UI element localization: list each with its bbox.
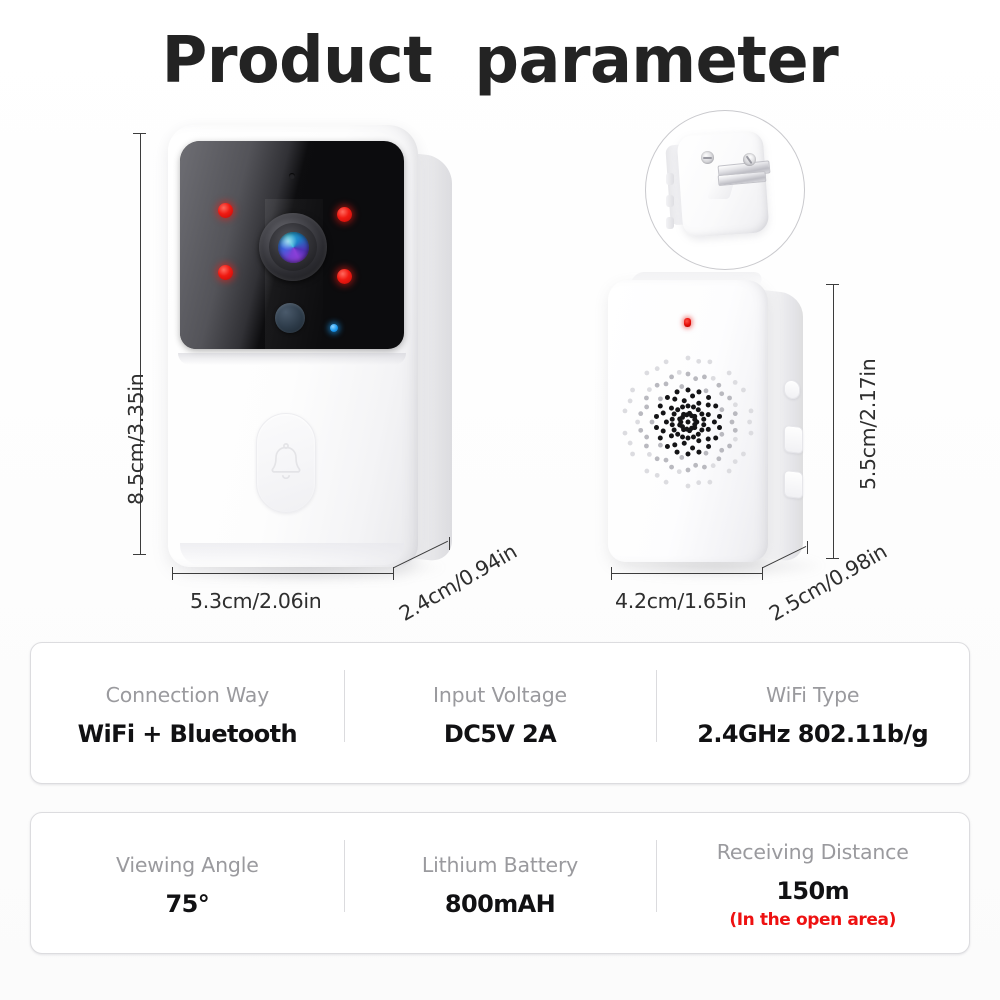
spec-cell-receiving-distance: Receiving Distance 150m (In the open are… (656, 813, 969, 953)
screw-icon (701, 151, 714, 164)
spec-label: Connection Way (106, 683, 269, 707)
spec-label: WiFi Type (766, 683, 859, 707)
ir-led-icon (218, 203, 233, 218)
chime-side-port[interactable] (784, 379, 800, 400)
dim-cap (449, 537, 450, 550)
doorbell-width-dimension-line (172, 573, 394, 574)
spec-value: 800mAH (445, 890, 555, 918)
chime-width-label: 4.2cm/1.65in (615, 589, 746, 613)
plug-detail-inset (645, 110, 805, 270)
doorbell-press-button[interactable] (256, 413, 316, 513)
ir-led-icon (337, 269, 352, 284)
doorbell-body (168, 125, 418, 567)
chime-front-face (608, 280, 768, 562)
spec-label: Viewing Angle (116, 853, 259, 877)
spec-cell-viewing-angle: Viewing Angle 75° (31, 813, 344, 953)
spec-cell-wifi-type: WiFi Type 2.4GHz 802.11b/g (656, 643, 969, 783)
page-title: Product parameter (15, 24, 985, 98)
lens-ring (269, 223, 317, 271)
chime-volume-button[interactable] (784, 425, 803, 454)
spec-value: 150m (776, 877, 849, 905)
camera-lens (259, 213, 327, 281)
spec-note: (In the open area) (729, 910, 896, 930)
dim-cap (133, 554, 146, 555)
lens-iris (278, 232, 309, 263)
spec-cell-input-voltage: Input Voltage DC5V 2A (344, 643, 657, 783)
product-parameter-page: Product parameter (0, 0, 1000, 1000)
doorbell-face-seam (178, 353, 406, 365)
dim-cap (826, 558, 839, 559)
spec-cell-lithium-battery: Lithium Battery 800mAH (344, 813, 657, 953)
spec-cell-connection-way: Connection Way WiFi + Bluetooth (31, 643, 344, 783)
spec-label: Lithium Battery (422, 853, 578, 877)
chime-melody-button[interactable] (784, 470, 803, 499)
spec-value: DC5V 2A (444, 720, 556, 748)
doorbell-height-label: 8.5cm/3.35in (124, 374, 148, 505)
doorbell-bottom-lip (180, 543, 404, 565)
ir-led-icon (337, 207, 352, 222)
speaker-grille-icon (618, 350, 758, 495)
product-illustration-stage: 8.5cm/3.35in 5.3cm/2.06in 2.4cm/0.94in (0, 105, 1000, 630)
port (666, 217, 674, 229)
dim-cap (762, 567, 763, 580)
spec-value: 2.4GHz 802.11b/g (697, 720, 928, 748)
bell-icon (266, 442, 306, 484)
spec-card-row-1: Connection Way WiFi + Bluetooth Input Vo… (30, 642, 970, 784)
chime-width-dimension-line (611, 573, 763, 574)
doorbell-width-label: 5.3cm/2.06in (190, 589, 321, 613)
ir-led-icon (218, 265, 233, 280)
port (666, 173, 674, 185)
spec-value: WiFi + Bluetooth (78, 720, 297, 748)
chime-side-ports (666, 173, 674, 231)
pir-motion-sensor (275, 303, 305, 333)
chime-height-label: 5.5cm/2.17in (856, 359, 880, 490)
chime-status-led-icon (684, 318, 691, 327)
chime-height-dimension-line (833, 284, 834, 559)
dim-cap (393, 567, 394, 580)
chime-receiver-device (608, 280, 823, 570)
port (666, 195, 674, 207)
spec-label: Receiving Distance (717, 840, 909, 864)
doorbell-camera-panel (180, 141, 404, 349)
spec-label: Input Voltage (433, 683, 567, 707)
spec-card-row-2: Viewing Angle 75° Lithium Battery 800mAH… (30, 812, 970, 954)
spec-value: 75° (166, 890, 210, 918)
dim-cap (807, 541, 808, 554)
status-led-blue-icon (330, 324, 338, 332)
doorbell-camera-device (168, 125, 446, 570)
microphone-hole (289, 173, 295, 179)
